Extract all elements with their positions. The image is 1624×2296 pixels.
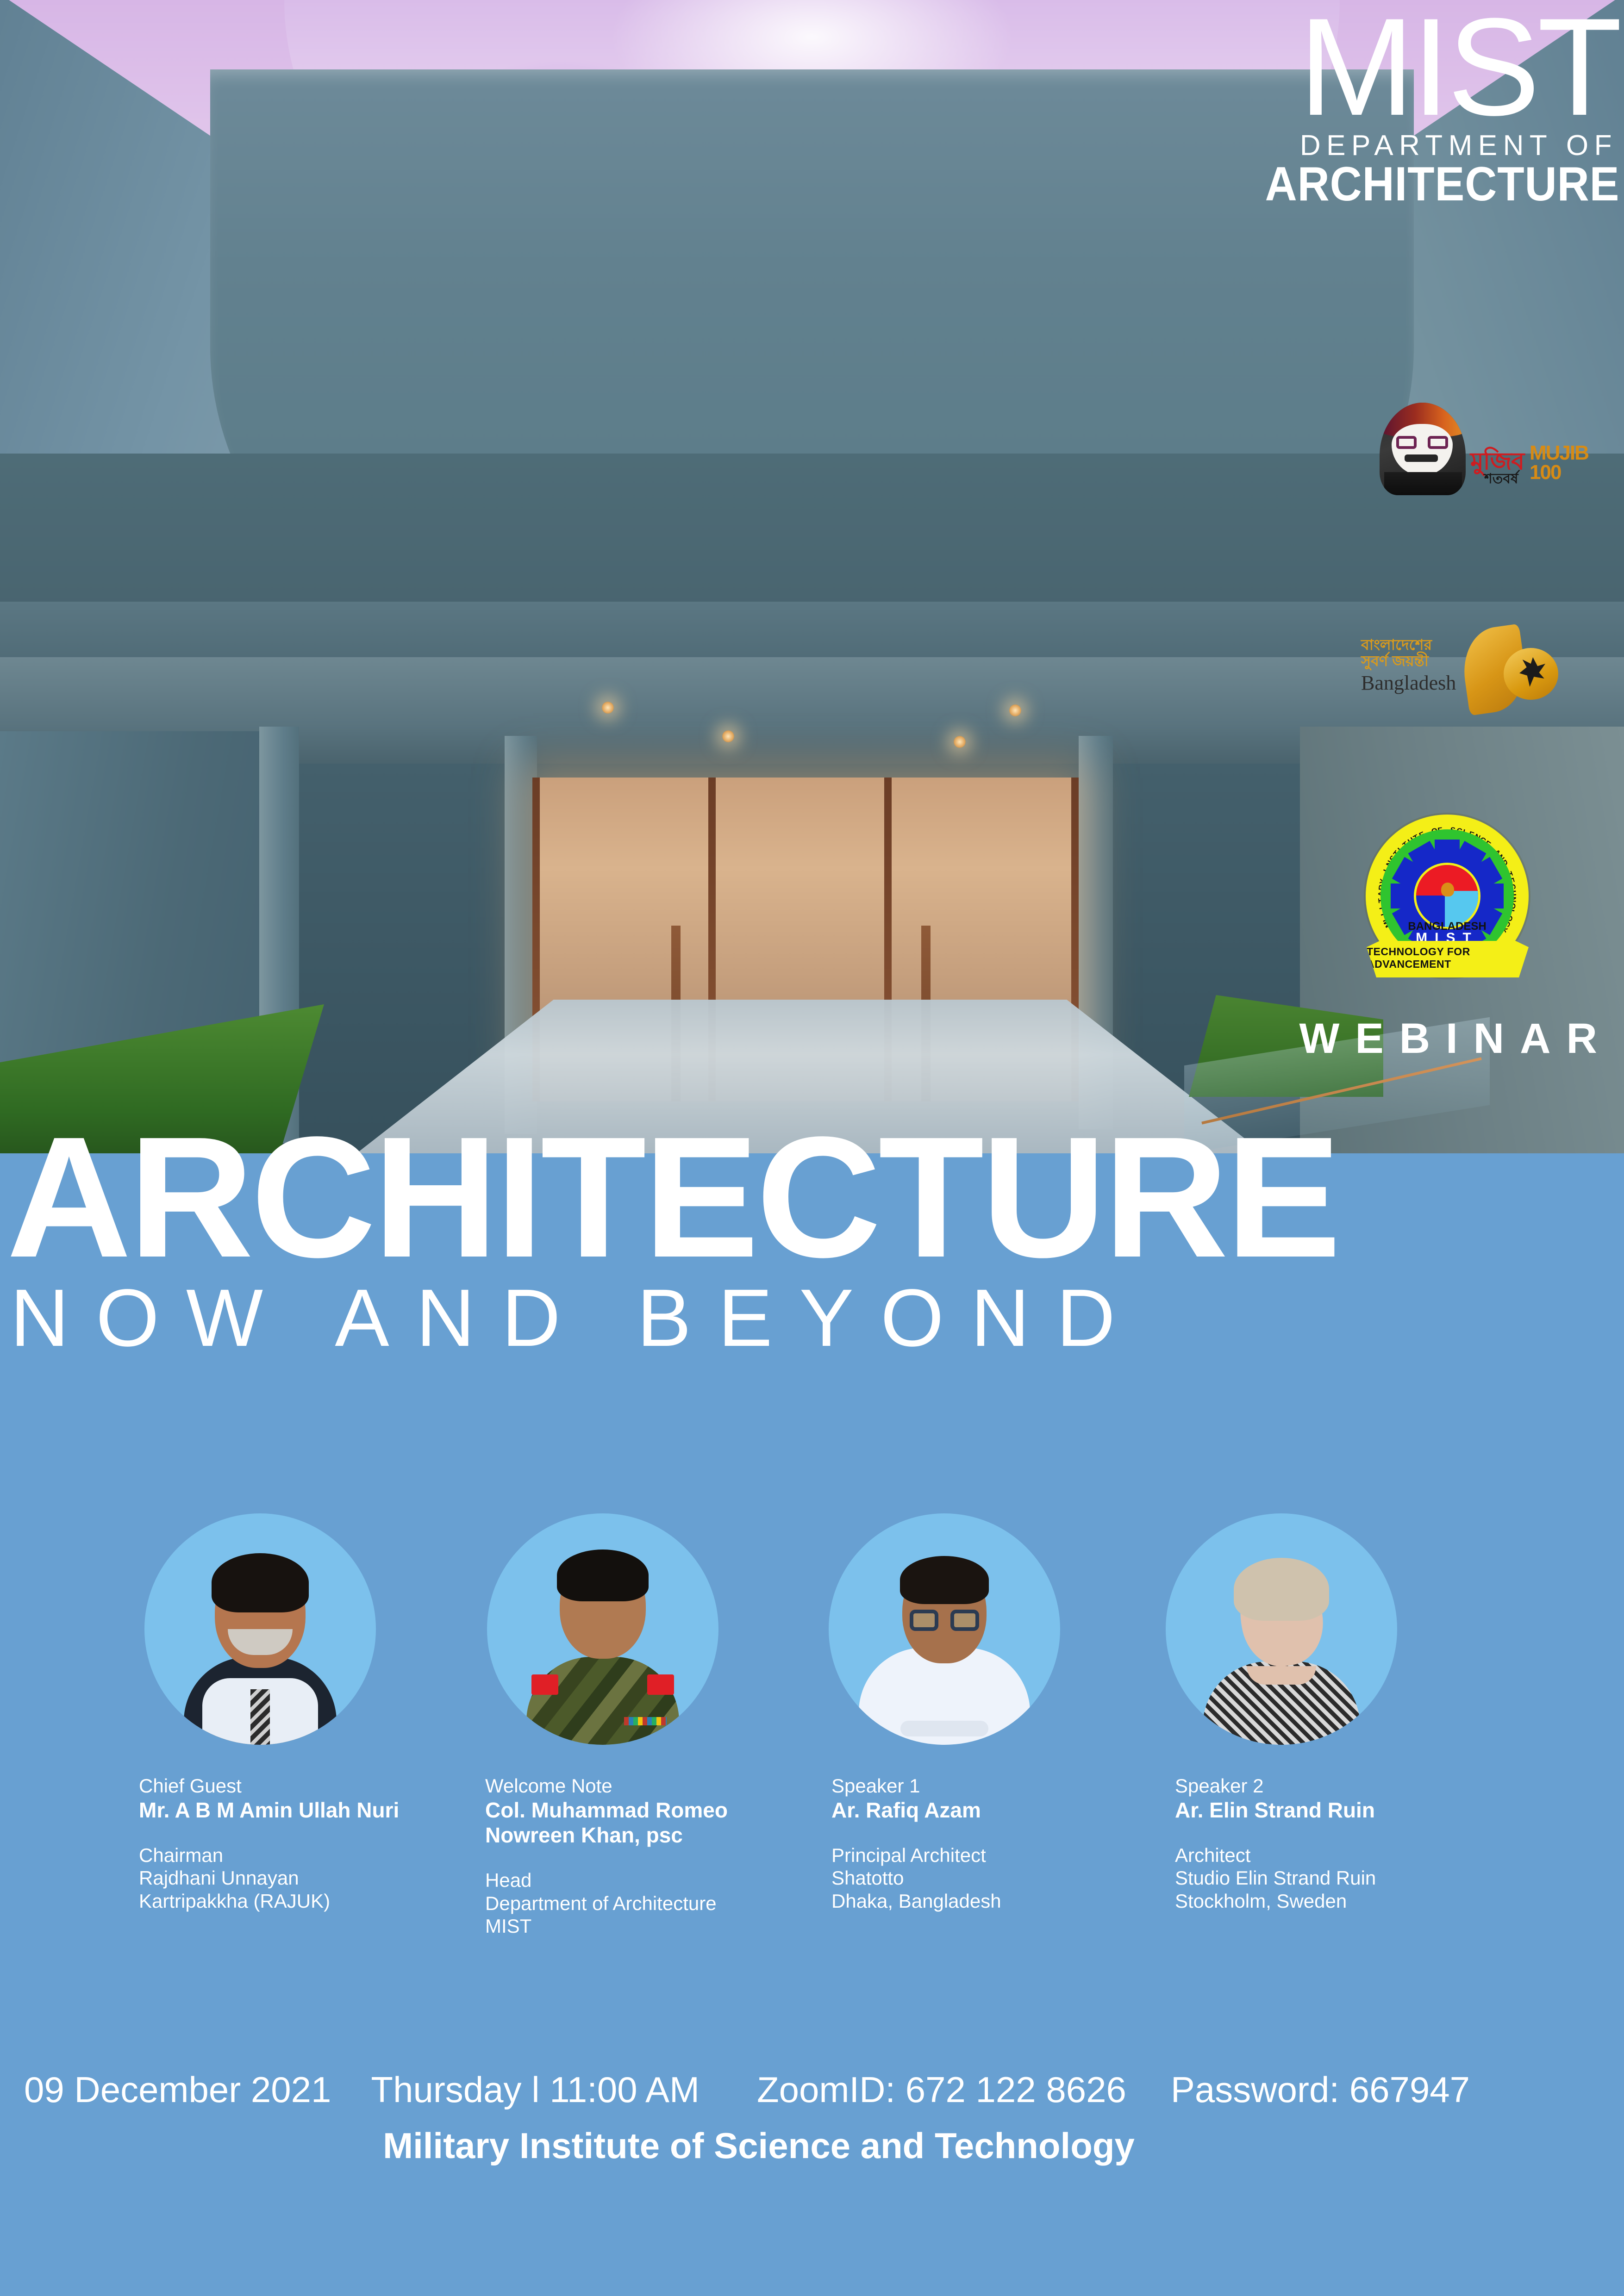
webinar-kicker: WEBINAR — [1299, 1014, 1613, 1063]
bangladesh-golden-jubilee-logo: বাংলাদেশের সুবর্ণ জয়ন্তী Bangladesh — [1361, 634, 1560, 717]
speaker-role: Chief Guest — [139, 1774, 426, 1798]
mujib-bangla-subtitle: শতবর্ষ — [1484, 467, 1518, 491]
crest-motto-ribbon: TECHNOLOGY FOR ADVANCEMENT — [1367, 939, 1529, 977]
portrait-chief-guest — [144, 1513, 376, 1745]
event-date: 09 December 2021 — [24, 2069, 331, 2111]
bd50-numeral-mark — [1464, 628, 1561, 716]
crest-motto-label: TECHNOLOGY FOR ADVANCEMENT — [1367, 946, 1529, 971]
mujib-english-text: MUJIB 100 — [1530, 443, 1588, 482]
page-title: ARCHITECTURE — [0, 1126, 1624, 1268]
institution-name: Military Institute of Science and Techno… — [0, 2125, 1624, 2167]
speaker-card-speaker-1: Speaker 1 Ar. Rafiq Azam Principal Archi… — [815, 1513, 1102, 1912]
mist-acronym: MIST — [1234, 0, 1619, 136]
zoom-password[interactable]: Password: 667947 — [1171, 2069, 1470, 2111]
footer-details-row: 09 December 2021 Thursday l 11:00 AM Zoo… — [0, 2069, 1624, 2111]
speaker-card-speaker-2: Speaker 2 Ar. Elin Strand Ruin Architect… — [1153, 1513, 1440, 1912]
lightbulb-icon — [1441, 883, 1454, 896]
department-name-label: ARCHITECTURE — [1265, 160, 1619, 208]
event-time: Thursday l 11:00 AM — [371, 2069, 700, 2111]
speaker-affiliation: Chairman Rajdhani Unnayan Kartripakkha (… — [139, 1844, 426, 1913]
title-block: ARCHITECTURE NOW AND BEYOND — [0, 1153, 1624, 1365]
speaker-role: Speaker 2 — [1175, 1774, 1440, 1798]
speaker-affiliation: Principal Architect Shatotto Dhaka, Bang… — [831, 1844, 1102, 1913]
footer: 09 December 2021 Thursday l 11:00 AM Zoo… — [0, 2069, 1624, 2167]
mujib-100-logo: মুজিব শতবর্ষ MUJIB 100 — [1380, 403, 1565, 509]
speaker-role: Speaker 1 — [831, 1774, 1102, 1798]
speakers-row: Chief Guest Mr. A B M Amin Ullah Nuri Ch… — [0, 1513, 1624, 1938]
portrait-speaker-2 — [1166, 1513, 1397, 1745]
speaker-name: Col. Muhammad Romeo Nowreen Khan, psc — [485, 1798, 764, 1848]
hero-photo: MIST DEPARTMENT OF ARCHITECTURE মুজিব শত… — [0, 0, 1624, 1153]
speaker-affiliation: Architect Studio Elin Strand Ruin Stockh… — [1175, 1844, 1440, 1913]
portrait-welcome-note — [487, 1513, 718, 1745]
speaker-name: Mr. A B M Amin Ullah Nuri — [139, 1798, 426, 1823]
speaker-role: Welcome Note — [485, 1774, 764, 1798]
portrait-speaker-1 — [829, 1513, 1060, 1745]
mist-wordmark: MIST DEPARTMENT OF ARCHITECTURE — [1234, 0, 1619, 208]
crest-country-label: BANGLADESH — [1407, 920, 1487, 933]
mujib-portrait-icon — [1380, 403, 1466, 495]
speaker-card-chief-guest: Chief Guest Mr. A B M Amin Ullah Nuri Ch… — [139, 1513, 426, 1912]
department-of-label: DEPARTMENT OF — [1234, 131, 1619, 160]
mist-crest-logo: MILITARY INSTITUTE OF SCIENCE AND TECHNO… — [1356, 815, 1542, 1000]
speaker-name: Ar. Elin Strand Ruin — [1175, 1798, 1440, 1823]
speaker-card-welcome-note: Welcome Note Col. Muhammad Romeo Nowreen… — [477, 1513, 764, 1938]
zoom-id[interactable]: ZoomID: 672 122 8626 — [757, 2069, 1126, 2111]
speaker-affiliation: Head Department of Architecture MIST — [485, 1869, 764, 1938]
bd50-english-label: Bangladesh — [1361, 671, 1456, 695]
speaker-name: Ar. Rafiq Azam — [831, 1798, 1102, 1823]
bd50-bangla-text: বাংলাদেশের সুবর্ণ জয়ন্তী — [1361, 637, 1477, 669]
